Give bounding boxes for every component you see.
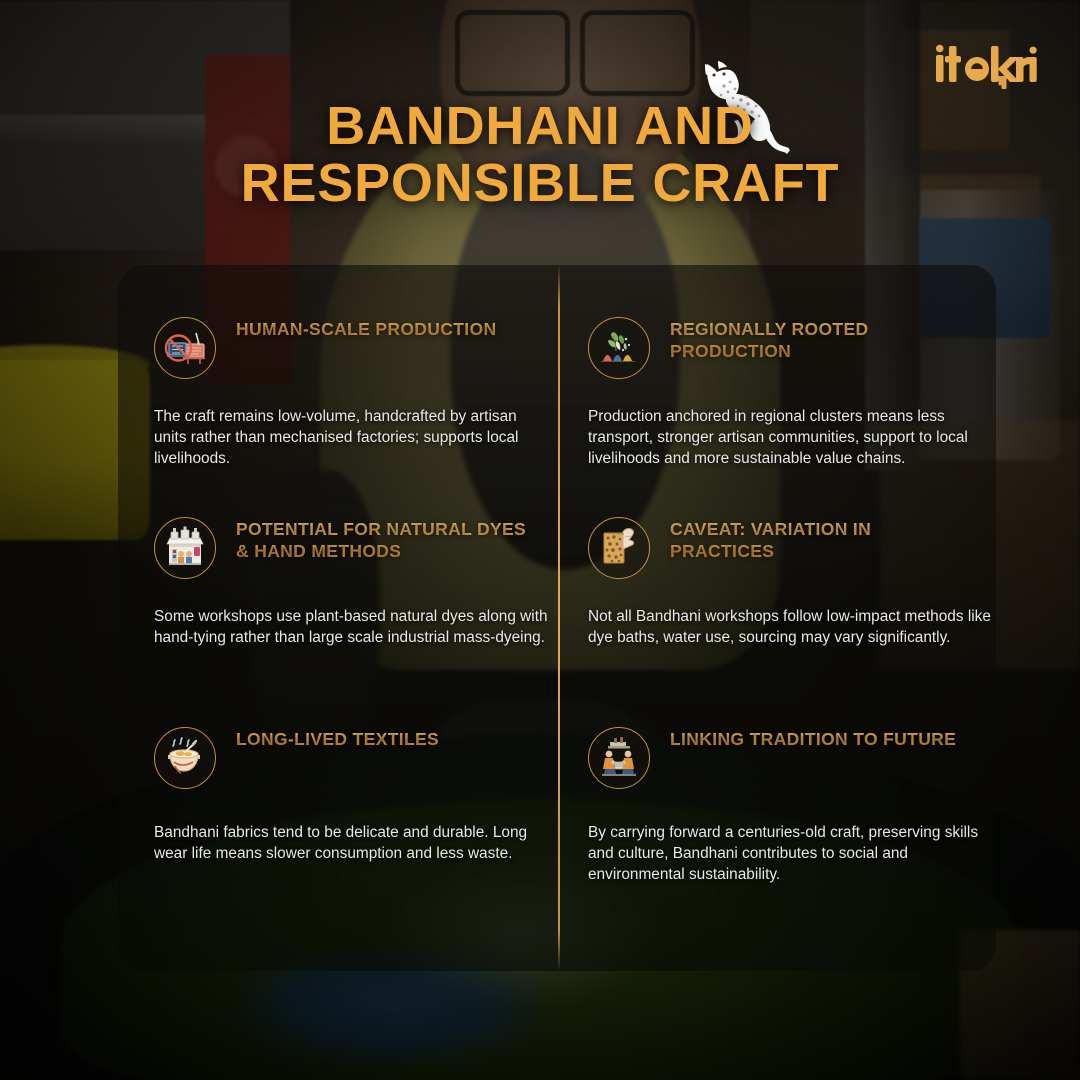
craft-workshop-shop-icon — [154, 517, 216, 579]
feature-body: Not all Bandhani workshops follow low-im… — [588, 607, 996, 649]
leaves-and-dye-powders-icon — [588, 317, 650, 379]
feature-title: CAVEAT: VARIATION IN PRACTICES — [670, 519, 980, 563]
feature-body: The craft remains low-volume, handcrafte… — [154, 407, 552, 470]
two-artisans-working-icon — [588, 727, 650, 789]
left-column: HUMAN-SCALE PRODUCTION The craft remains… — [118, 265, 558, 971]
page-title: BANDHANI AND RESPONSIBLE CRAFT — [0, 98, 1080, 212]
header: BANDHANI AND RESPONSIBLE CRAFT — [0, 0, 1080, 265]
feature-body: By carrying forward a centuries-old craf… — [588, 823, 996, 886]
feature-title: LINKING TRADITION TO FUTURE — [670, 729, 980, 751]
feature-title: HUMAN-SCALE PRODUCTION — [236, 319, 536, 341]
content-card: HUMAN-SCALE PRODUCTION The craft remains… — [118, 265, 996, 971]
feature-body: Bandhani fabrics tend to be delicate and… — [154, 823, 552, 865]
feature-title: LONG-LIVED TEXTILES — [236, 729, 536, 751]
hand-holding-patterned-fabric-icon — [588, 517, 650, 579]
no-factory-machine-icon — [154, 317, 216, 379]
feature-body: Production anchored in regional clusters… — [588, 407, 996, 470]
feature-title: REGIONALLY ROOTED PRODUCTION — [670, 319, 980, 363]
itokri-logo[interactable] — [934, 38, 1038, 94]
feature-body: Some workshops use plant-based natural d… — [154, 607, 552, 649]
steaming-dye-pot-icon — [154, 727, 216, 789]
feature-title: POTENTIAL FOR NATURAL DYES & HAND METHOD… — [236, 519, 536, 563]
right-column: REGIONALLY ROOTED PRODUCTION Production … — [560, 265, 1000, 971]
